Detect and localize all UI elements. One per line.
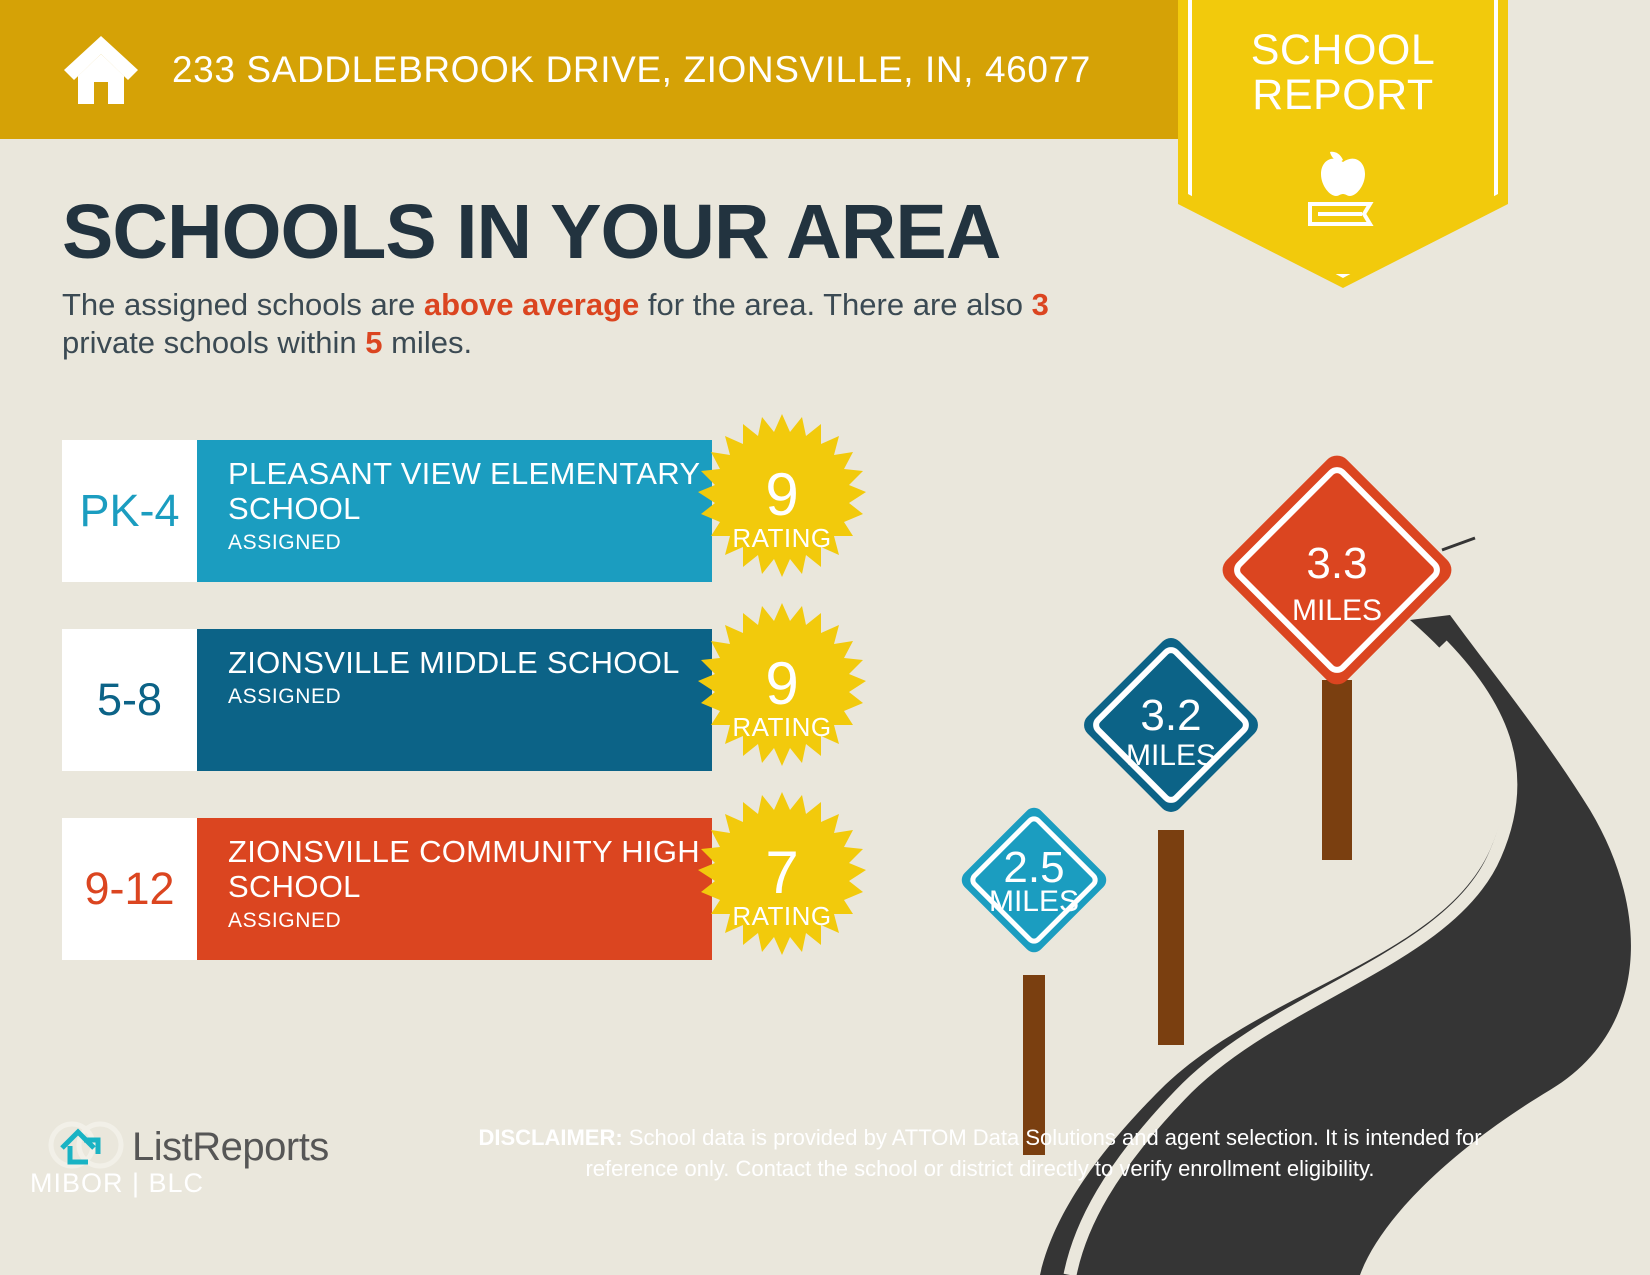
summary-part-1: The assigned schools are xyxy=(62,287,424,322)
sign-distance-unit: MILES xyxy=(1292,594,1382,627)
badge-title: SCHOOL REPORT xyxy=(1178,28,1508,118)
summary-text: The assigned schools are above average f… xyxy=(62,286,1092,362)
disclaimer: DISCLAIMER: School data is provided by A… xyxy=(450,1122,1510,1184)
school-row[interactable]: PK-4 PLEASANT VIEW ELEMENTARY SCHOOL ASS… xyxy=(62,440,862,582)
school-name: ZIONSVILLE COMMUNITY HIGH SCHOOL xyxy=(228,834,712,904)
home-icon xyxy=(62,34,140,106)
school-status: ASSIGNED xyxy=(228,531,712,555)
summary-part-4: miles. xyxy=(383,325,473,360)
rating-starburst: 9 RATING xyxy=(682,599,882,799)
sign-distance-value: 3.3 xyxy=(1306,539,1367,588)
summary-part-2: for the area. There are also xyxy=(639,287,1031,322)
header-bar: 233 SADDLEBROOK DRIVE, ZIONSVILLE, IN, 4… xyxy=(0,0,1193,139)
property-address: 233 SADDLEBROOK DRIVE, ZIONSVILLE, IN, 4… xyxy=(172,49,1091,91)
school-name: PLEASANT VIEW ELEMENTARY SCHOOL xyxy=(228,456,712,526)
school-name: ZIONSVILLE MIDDLE SCHOOL xyxy=(228,645,712,680)
sign-post xyxy=(1322,680,1352,860)
listreports-logo-text: ListReports xyxy=(132,1125,329,1170)
rating-value: 9 xyxy=(765,467,798,523)
summary-highlight-count: 3 xyxy=(1032,287,1049,322)
rating-starburst: 7 RATING xyxy=(682,788,882,988)
rating-value: 7 xyxy=(765,845,798,901)
rating-value: 9 xyxy=(765,656,798,712)
sign-distance-unit: MILES xyxy=(1126,739,1216,772)
badge-line-1: SCHOOL xyxy=(1178,28,1508,73)
school-row[interactable]: 9-12 ZIONSVILLE COMMUNITY HIGH SCHOOL AS… xyxy=(62,818,862,960)
mls-attribution: MIBOR | BLC xyxy=(30,1168,204,1199)
school-status: ASSIGNED xyxy=(228,685,712,709)
school-info: PLEASANT VIEW ELEMENTARY SCHOOL ASSIGNED xyxy=(197,440,712,582)
book-icon xyxy=(1310,204,1370,224)
disclaimer-label: DISCLAIMER: xyxy=(478,1125,622,1150)
distance-sign-1: 2.5 MILES xyxy=(958,804,1111,1155)
sign-distance-value: 3.2 xyxy=(1140,691,1201,740)
rating-starburst: 9 RATING xyxy=(682,410,882,610)
school-status: ASSIGNED xyxy=(228,909,712,933)
summary-highlight-radius: 5 xyxy=(365,325,382,360)
school-info: ZIONSVILLE COMMUNITY HIGH SCHOOL ASSIGNE… xyxy=(197,818,712,960)
disclaimer-text: School data is provided by ATTOM Data So… xyxy=(585,1125,1481,1181)
schools-list: PK-4 PLEASANT VIEW ELEMENTARY SCHOOL ASS… xyxy=(62,440,862,1007)
school-row[interactable]: 5-8 ZIONSVILLE MIDDLE SCHOOL ASSIGNED 9 … xyxy=(62,629,862,771)
badge-icon-group xyxy=(1178,138,1508,243)
summary-highlight-quality: above average xyxy=(424,287,639,322)
school-grade-range: 5-8 xyxy=(62,629,197,771)
rating-label: RATING xyxy=(732,712,831,743)
apple-icon xyxy=(1321,152,1365,196)
school-grade-range: PK-4 xyxy=(62,440,197,582)
rating-label: RATING xyxy=(732,523,831,554)
school-grade-range: 9-12 xyxy=(62,818,197,960)
sign-distance-unit: MILES xyxy=(989,885,1079,918)
distance-sign-3: 3.3 MILES xyxy=(1217,450,1457,860)
rating-label: RATING xyxy=(732,901,831,932)
sign-post xyxy=(1158,830,1184,1045)
summary-part-3: private schools within xyxy=(62,325,365,360)
distance-sign-2: 3.2 MILES xyxy=(1079,633,1263,1045)
school-info: ZIONSVILLE MIDDLE SCHOOL ASSIGNED xyxy=(197,629,712,771)
sign-wire xyxy=(1442,538,1475,550)
badge-line-2: REPORT xyxy=(1178,73,1508,118)
page-title: SCHOOLS IN YOUR AREA xyxy=(62,192,1000,272)
school-report-badge: SCHOOL REPORT xyxy=(1178,0,1508,288)
